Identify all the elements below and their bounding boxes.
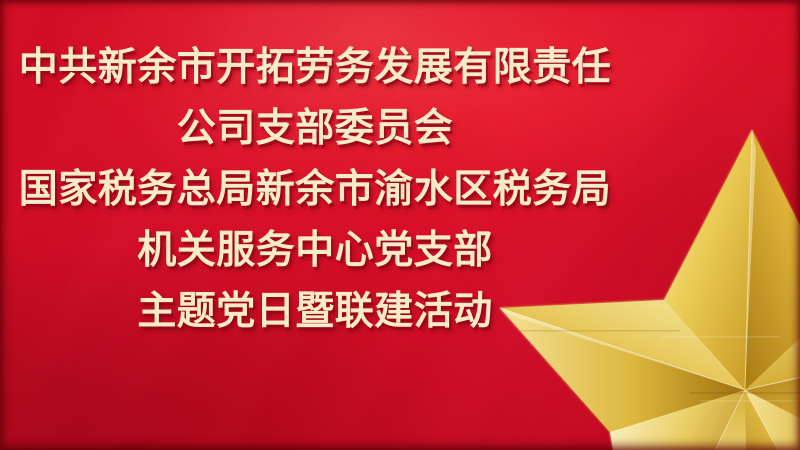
title-text-block: 中共新余市开拓劳务发展有限责任 公司支部委员会 国家税务总局新余市渝水区税务局 … — [0, 0, 630, 450]
title-line-4: 机关服务中心党支部 — [137, 231, 493, 270]
title-line-1: 中共新余市开拓劳务发展有限责任 — [19, 48, 612, 87]
party-event-banner: 中共新余市开拓劳务发展有限责任 公司支部委员会 国家税务总局新余市渝水区税务局 … — [0, 0, 800, 450]
title-line-3: 国家税务总局新余市渝水区税务局 — [19, 170, 612, 209]
title-line-2: 公司支部委员会 — [177, 109, 454, 148]
title-line-5: 主题党日暨联建活动 — [137, 292, 493, 331]
